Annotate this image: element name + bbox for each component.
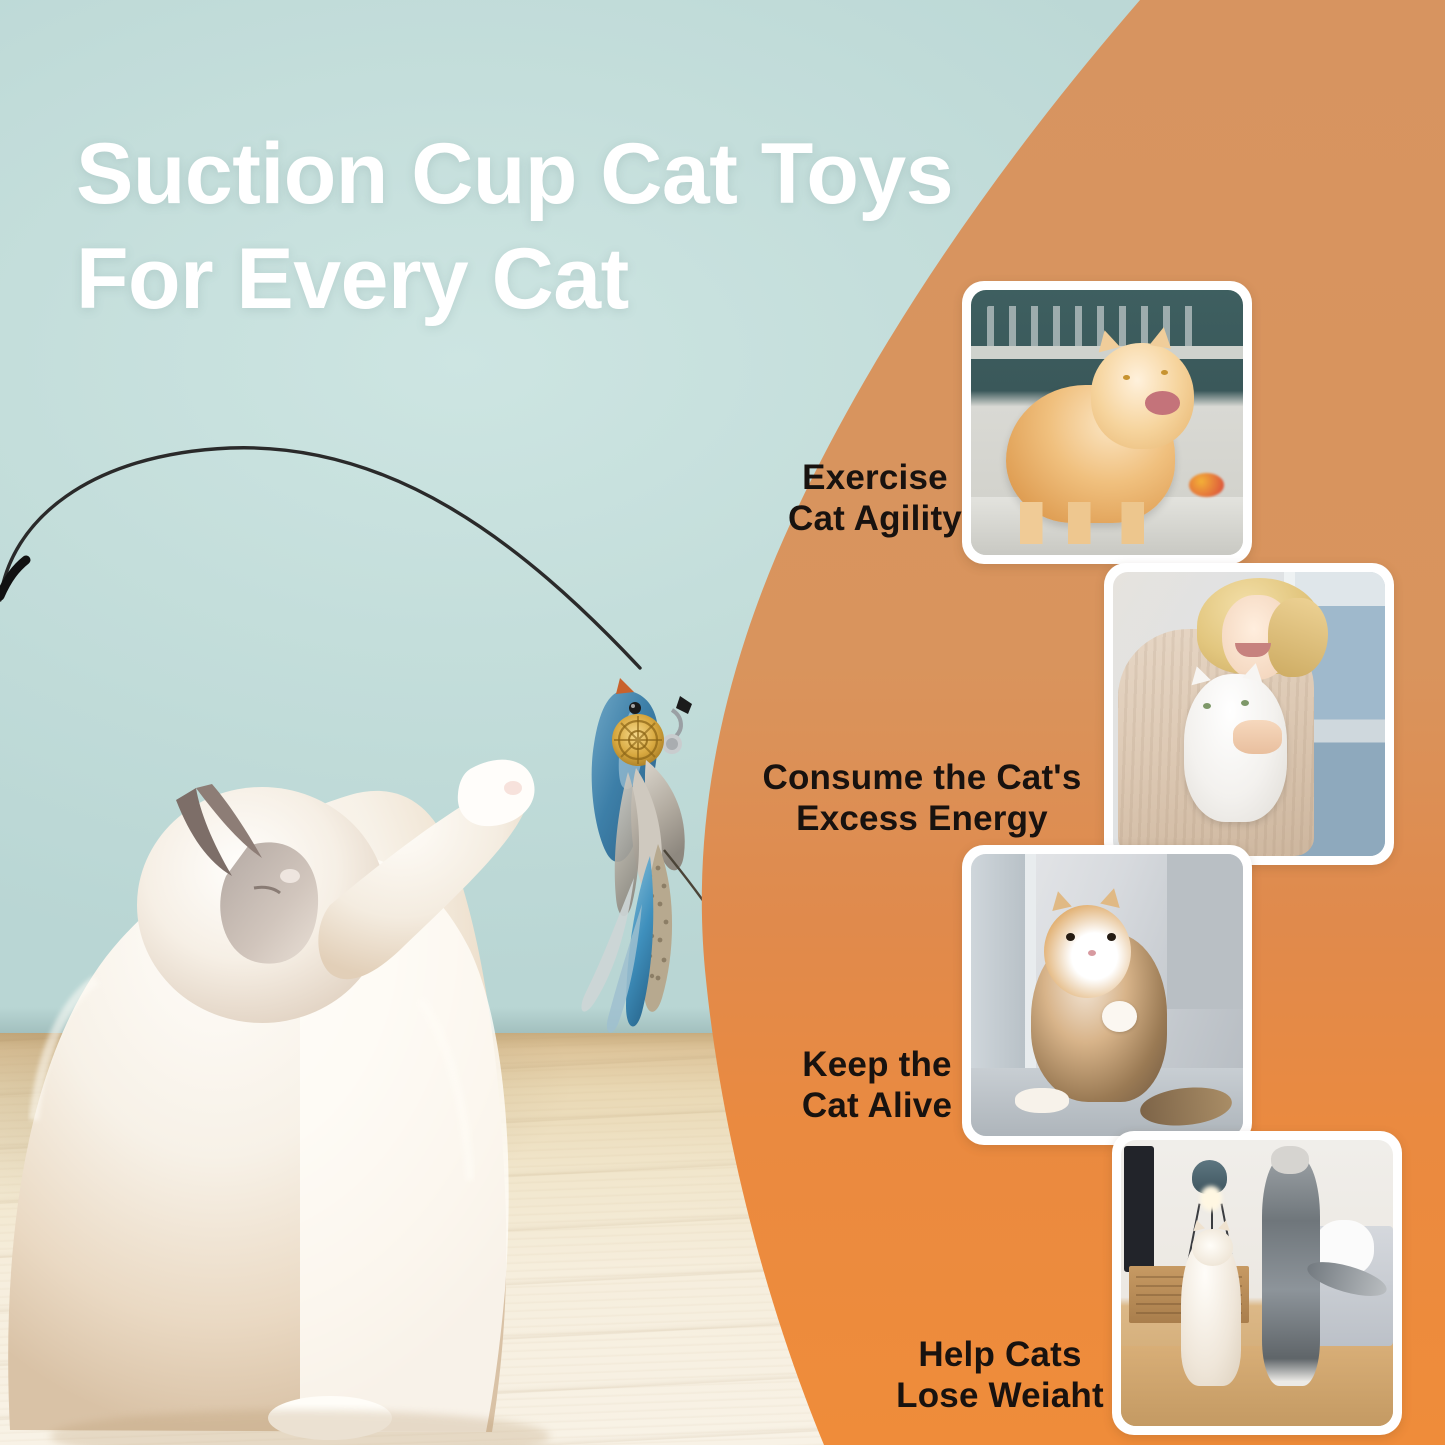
thumbnail-image-two-cats-playing	[1121, 1140, 1393, 1426]
thumbnail-image-woman-with-white-cat	[1113, 572, 1385, 856]
feature-thumbnail-keep-the-cat-alive	[962, 845, 1252, 1145]
feature-label-text: Keep the Cat Alive	[802, 1044, 952, 1127]
thumbnail-image-cat-meowing	[971, 290, 1243, 555]
feature-label-exercise-cat-agility: Exercise Cat Agility	[770, 448, 980, 548]
feature-label-help-cats-lose-weight: Help Cats Lose Weiaht	[890, 1325, 1110, 1425]
feature-label-text: Exercise Cat Agility	[788, 457, 962, 540]
feature-thumbnail-help-cats-lose-weight	[1112, 1131, 1402, 1435]
feature-label-consume-excess-energy: Consume the Cat's Excess Energy	[752, 748, 1092, 848]
product-poster: Suction Cup Cat Toys For Every Cat Exerc…	[0, 0, 1445, 1445]
thumbnail-image-calico-cat-paw-up	[971, 854, 1243, 1136]
feature-thumbnail-exercise-cat-agility	[962, 281, 1252, 564]
feature-thumbnail-consume-excess-energy	[1104, 563, 1394, 865]
feature-label-keep-the-cat-alive: Keep the Cat Alive	[772, 1035, 982, 1135]
page-title: Suction Cup Cat Toys For Every Cat	[76, 122, 953, 332]
feature-label-text: Consume the Cat's Excess Energy	[763, 757, 1082, 840]
feature-label-text: Help Cats Lose Weiaht	[896, 1334, 1104, 1417]
